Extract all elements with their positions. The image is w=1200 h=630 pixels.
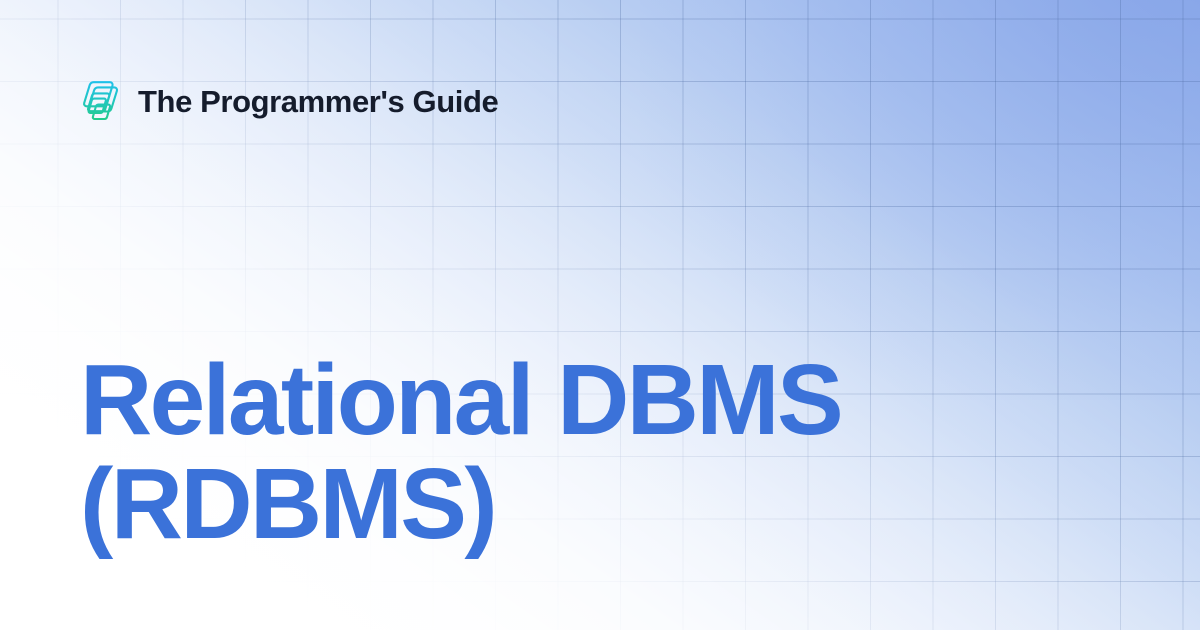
page-title: Relational DBMS (RDBMS)	[80, 348, 1090, 556]
page-title-line-2: (RDBMS)	[80, 452, 1090, 556]
page-title-line-1: Relational DBMS	[80, 348, 1090, 452]
brand-header: The Programmer's Guide	[80, 78, 498, 124]
brand-name-label: The Programmer's Guide	[138, 86, 498, 117]
og-card-canvas: The Programmer's Guide Relational DBMS (…	[0, 0, 1200, 630]
overlapping-layers-logo-icon	[80, 78, 122, 124]
